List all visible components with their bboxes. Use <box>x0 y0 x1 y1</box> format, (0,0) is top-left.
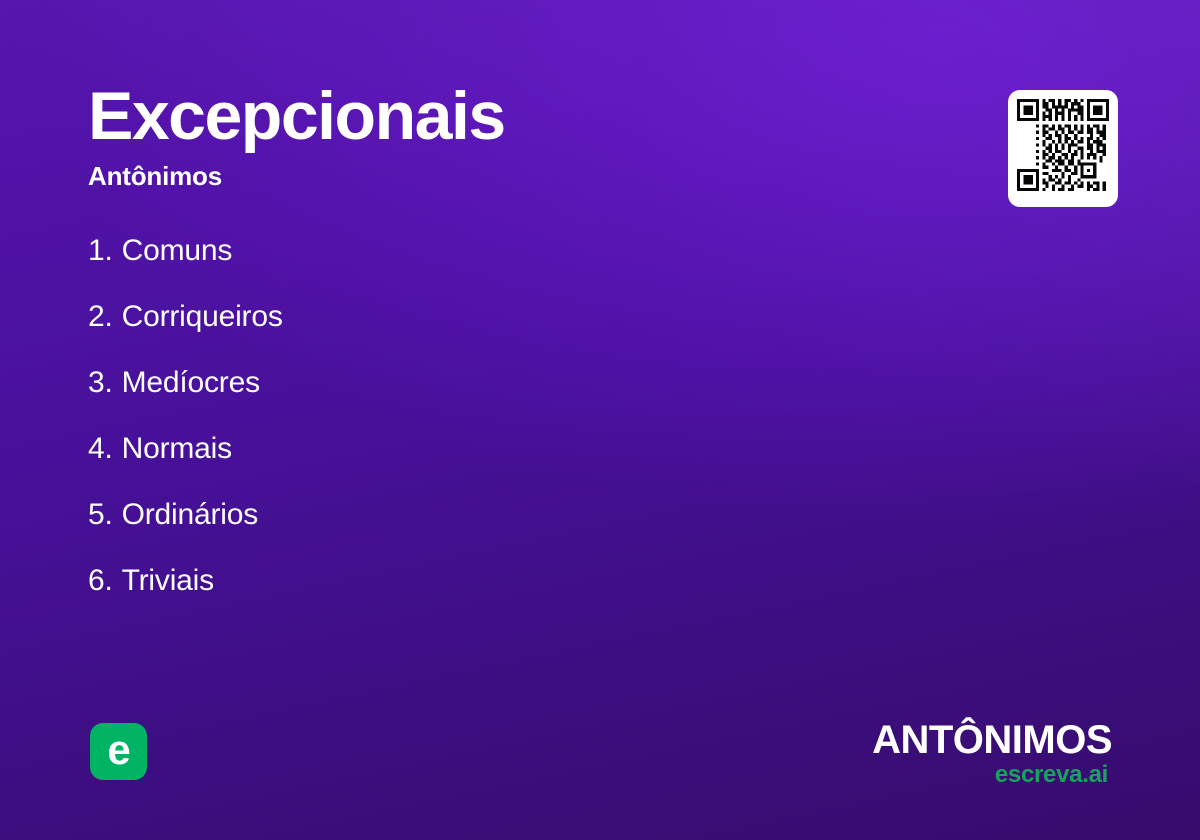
list-item-label: Medíocres <box>122 368 260 398</box>
page-title: Excepcionais <box>88 82 908 150</box>
header: Excepcionais Antônimos <box>88 82 908 191</box>
list-item-label: Corriqueiros <box>122 302 283 332</box>
list-item: 1. Comuns <box>88 236 788 302</box>
page-subtitle: Antônimos <box>88 162 908 191</box>
antonyms-list: 1. Comuns 2. Corriqueiros 3. Medíocres 4… <box>88 236 788 632</box>
list-item: 5. Ordinários <box>88 500 788 566</box>
qr-code[interactable] <box>1008 90 1118 207</box>
brand-logo: ANTÔNIMOS escreva.ai <box>872 720 1112 787</box>
list-item-index: 2. <box>88 302 113 332</box>
list-item-label: Triviais <box>122 566 214 596</box>
escreva-badge-icon[interactable]: e <box>90 723 147 780</box>
brand-logo-domain: escreva.ai <box>872 763 1108 787</box>
qr-code-icon <box>1017 99 1109 191</box>
list-item-label: Normais <box>122 434 232 464</box>
list-item-index: 1. <box>88 236 113 266</box>
antonyms-card: Excepcionais Antônimos <box>0 0 1200 840</box>
list-item-index: 6. <box>88 566 113 596</box>
brand-logo-title: ANTÔNIMOS <box>872 720 1112 760</box>
escreva-badge-letter: e <box>107 729 129 771</box>
list-item-label: Comuns <box>122 236 233 266</box>
list-item: 4. Normais <box>88 434 788 500</box>
list-item-index: 4. <box>88 434 113 464</box>
list-item-label: Ordinários <box>122 500 258 530</box>
list-item: 3. Medíocres <box>88 368 788 434</box>
list-item-index: 3. <box>88 368 113 398</box>
list-item: 2. Corriqueiros <box>88 302 788 368</box>
list-item: 6. Triviais <box>88 566 788 632</box>
list-item-index: 5. <box>88 500 113 530</box>
